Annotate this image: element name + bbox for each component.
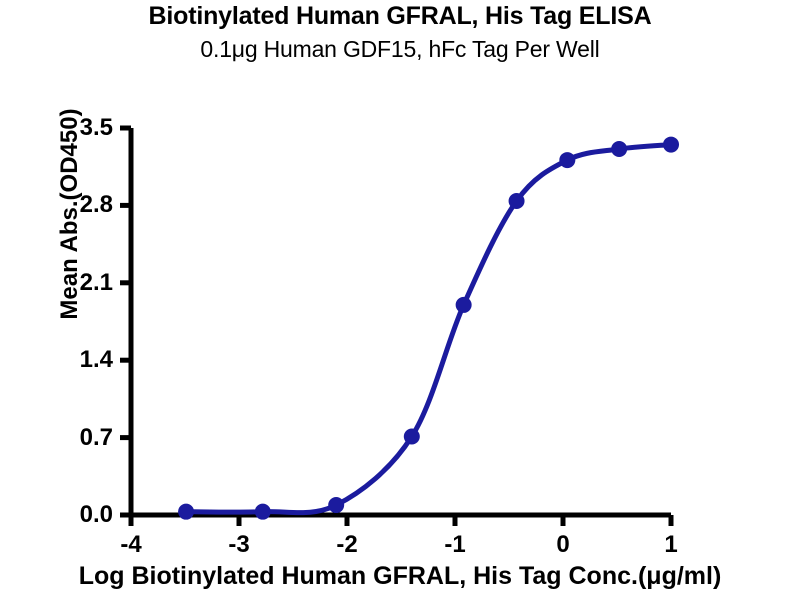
data-point-marker	[559, 152, 575, 168]
x-tick-label: -2	[336, 531, 357, 559]
y-tick-label: 3.5	[80, 114, 113, 142]
data-point-marker	[456, 297, 472, 313]
data-point-marker	[611, 141, 627, 157]
data-point-marker	[509, 193, 525, 209]
y-axis-label: Mean Abs.(OD450)	[56, 54, 84, 374]
data-point-marker	[328, 497, 344, 513]
y-tick-label: 0.7	[80, 424, 113, 452]
series-line	[186, 145, 671, 513]
axis-group	[120, 128, 671, 526]
data-point-marker	[255, 504, 271, 520]
chart-page: Biotinylated Human GFRAL, His Tag ELISA …	[0, 0, 800, 600]
plot-area	[0, 0, 800, 600]
x-tick-label: 0	[556, 531, 569, 559]
y-tick-label: 1.4	[80, 346, 113, 374]
data-point-marker	[663, 137, 679, 153]
data-point-marker	[178, 504, 194, 520]
series-group	[178, 137, 679, 520]
x-tick-label: -4	[120, 531, 141, 559]
y-tick-label: 0.0	[80, 501, 113, 529]
x-axis-label: Log Biotinylated Human GFRAL, His Tag Co…	[0, 562, 800, 591]
y-tick-label: 2.8	[80, 191, 113, 219]
x-tick-label: -3	[228, 531, 249, 559]
y-tick-label: 2.1	[80, 269, 113, 297]
x-tick-label: 1	[664, 531, 677, 559]
x-tick-label: -1	[444, 531, 465, 559]
data-point-marker	[404, 428, 420, 444]
